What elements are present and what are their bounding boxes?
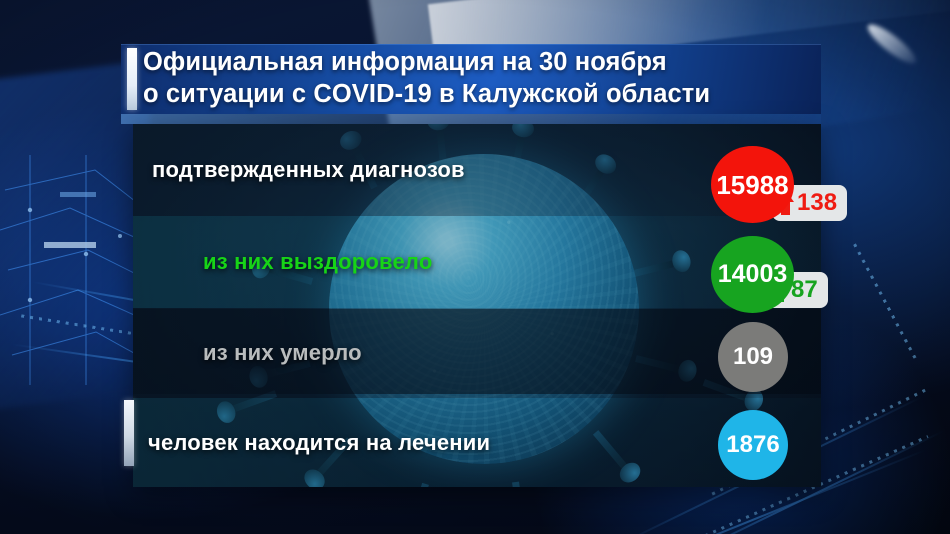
stat-row-label: подтвержденных диагнозов: [152, 157, 465, 183]
page-title-line-1: Официальная информация на 30 ноября: [143, 46, 833, 78]
delta-value: 138: [797, 189, 837, 217]
infographic-stage: Официальная информация на 30 ноября о си…: [0, 0, 950, 534]
delta-value: 87: [791, 276, 818, 304]
badge-value: 15988: [716, 172, 788, 198]
title-band-underline: [121, 114, 821, 124]
stat-row-label: из них выздоровело: [203, 249, 432, 275]
page-title: Официальная информация на 30 ноября о си…: [143, 46, 833, 110]
value-badge-deaths: 109: [718, 322, 788, 392]
badge-value: 1876: [726, 433, 779, 457]
stat-row-label: человек находится на лечении: [148, 430, 490, 456]
value-badge-recovered: 14003: [711, 236, 794, 313]
badge-value: 14003: [718, 262, 788, 287]
treatment-row-accent-bar: [124, 400, 134, 466]
value-badge-confirmed: 15988: [711, 146, 794, 223]
stat-row-label: из них умерло: [203, 340, 362, 366]
page-title-line-2: о ситуации с COVID-19 в Калужской област…: [143, 78, 833, 110]
badge-value: 109: [733, 345, 773, 369]
title-accent-bar: [127, 48, 137, 110]
value-badge-in-treatment: 1876: [718, 410, 788, 480]
